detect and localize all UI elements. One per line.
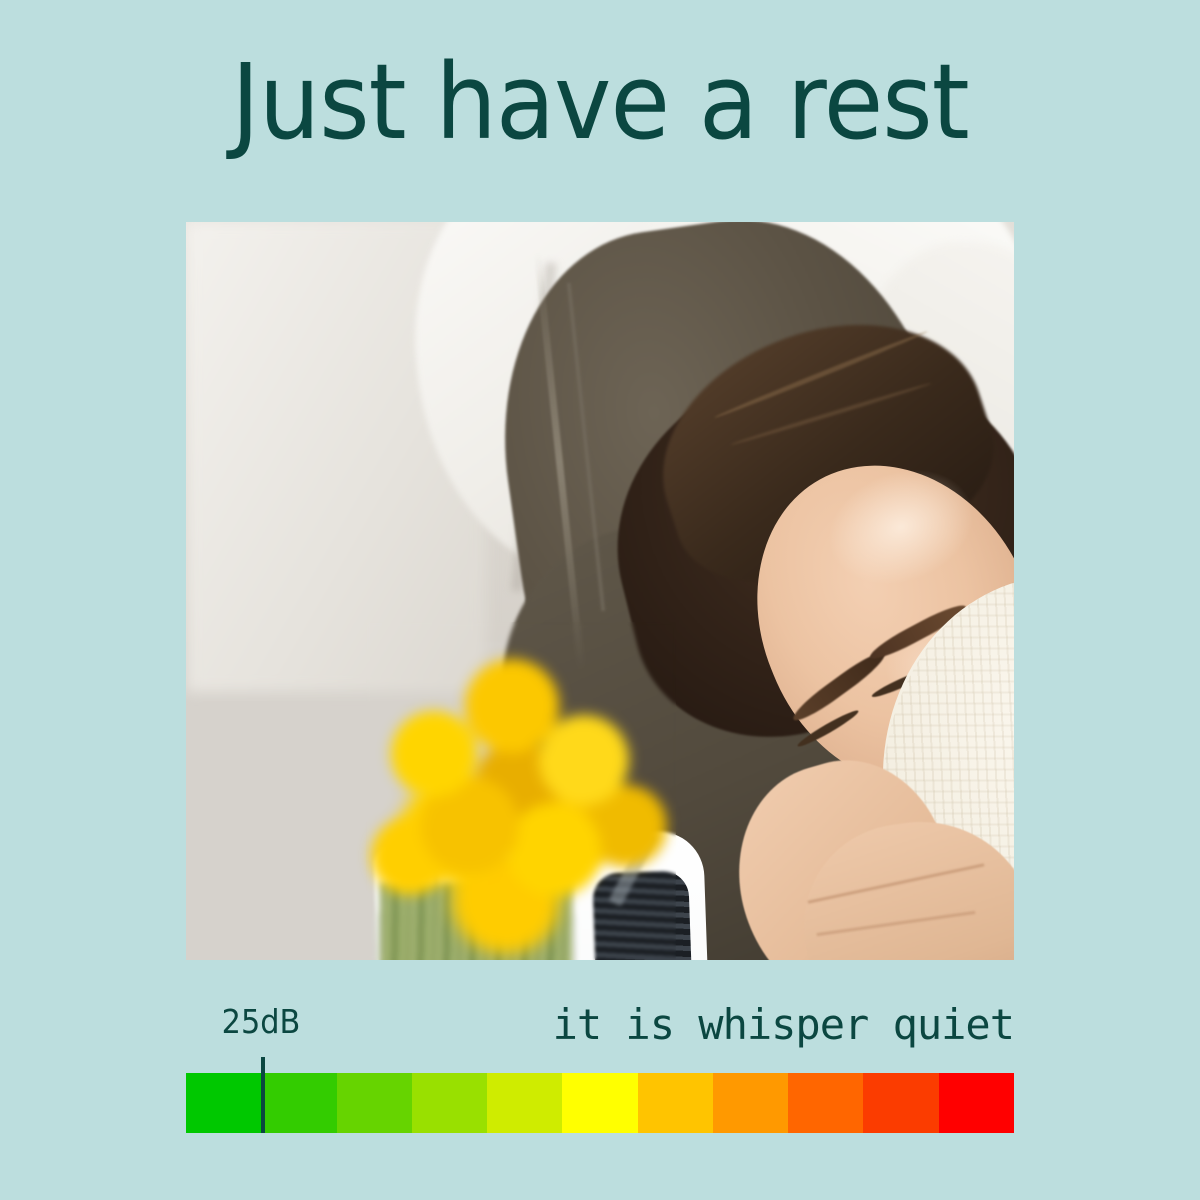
noise-scale-segment <box>186 1073 261 1133</box>
noise-scale-segment <box>337 1073 412 1133</box>
noise-scale-segment <box>261 1073 336 1133</box>
db-value-label: 25dB <box>192 1002 330 1041</box>
db-marker-line <box>261 1057 265 1133</box>
tagline: it is whisper quiet <box>400 1000 1014 1049</box>
page-title: Just have a rest <box>42 46 1158 158</box>
noise-scale-segment <box>487 1073 562 1133</box>
poster-canvas: Just have a rest <box>0 0 1200 1200</box>
noise-scale-segment <box>562 1073 637 1133</box>
noise-scale-segment <box>788 1073 863 1133</box>
noise-scale-segment <box>939 1073 1014 1133</box>
noise-scale-segment <box>713 1073 788 1133</box>
noise-scale-segment <box>412 1073 487 1133</box>
noise-scale-segment <box>638 1073 713 1133</box>
noise-scale <box>186 1073 1014 1133</box>
foreground-blur <box>366 622 676 960</box>
noise-scale-segment <box>863 1073 938 1133</box>
lifestyle-photo <box>186 222 1014 960</box>
noise-scale-bar <box>186 1073 1014 1133</box>
